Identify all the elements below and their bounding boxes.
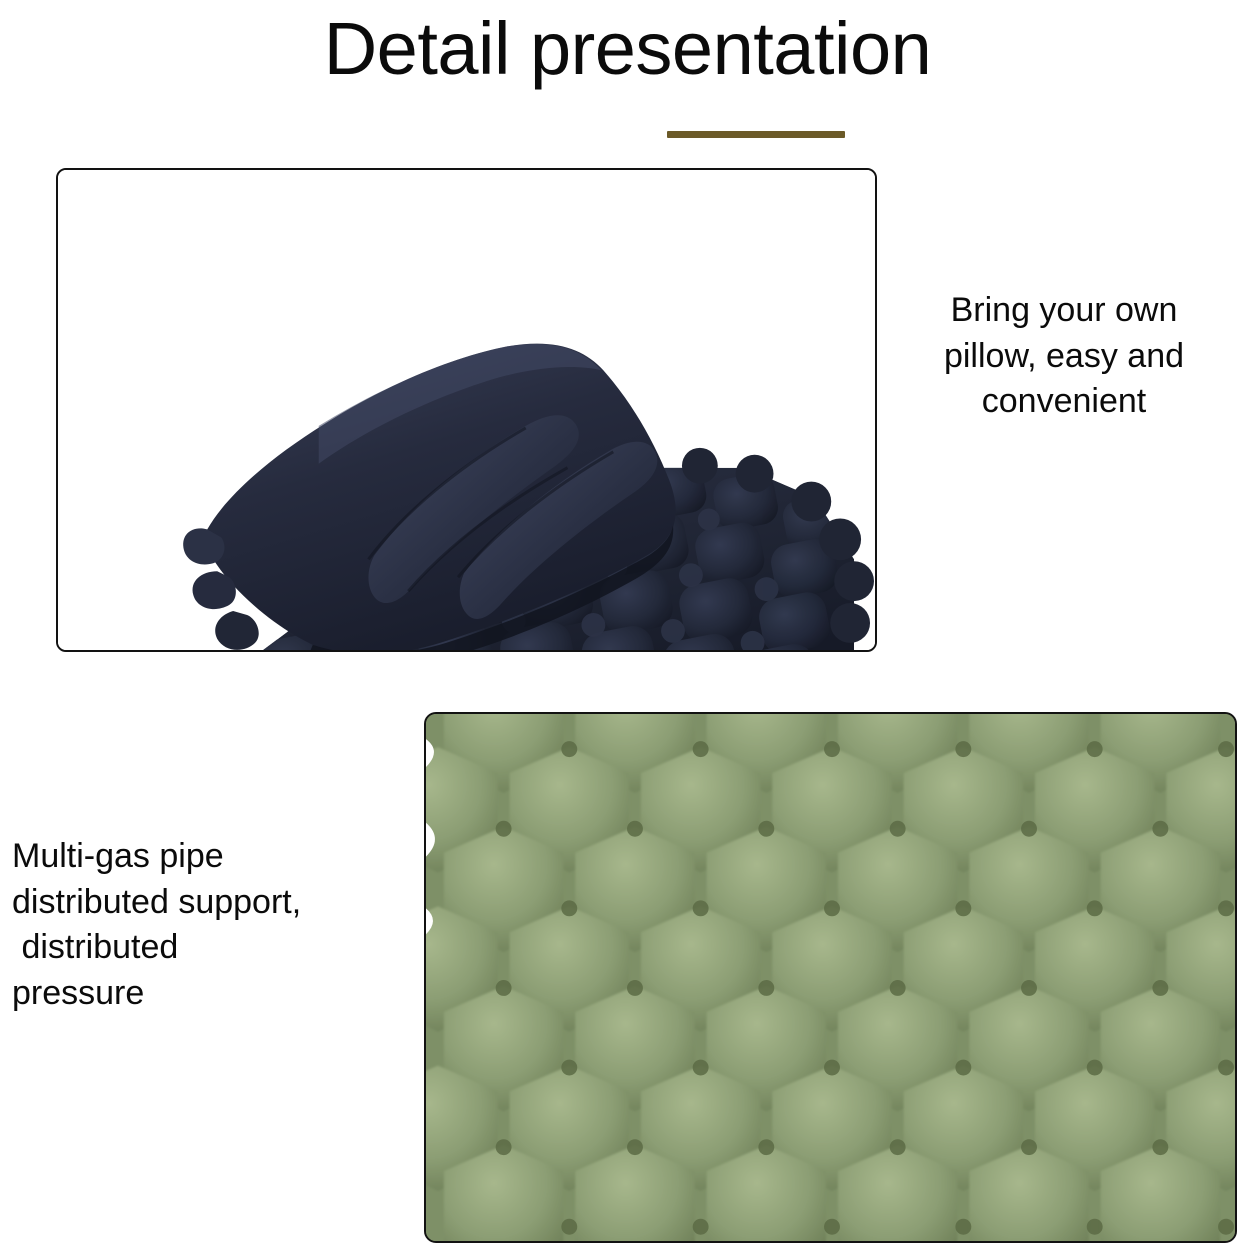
caption-honeycomb-line-2: distributed support, xyxy=(12,880,412,926)
caption-pillow-line-3: convenient xyxy=(888,379,1240,425)
green-honeycomb-mattress-illustration xyxy=(426,714,1235,1241)
inflatable-pillow-illustration xyxy=(58,170,875,650)
caption-honeycomb-line-3: distributed xyxy=(12,925,412,971)
caption-honeycomb: Multi-gas pipe distributed support, dist… xyxy=(12,834,412,1016)
honeycomb-cell-grid xyxy=(426,714,1235,1241)
caption-pillow-line-1: Bring your own xyxy=(888,288,1240,334)
caption-honeycomb-line-1: Multi-gas pipe xyxy=(12,834,412,880)
product-image-panel-honeycomb xyxy=(424,712,1237,1243)
title-underline-accent xyxy=(667,131,845,138)
caption-honeycomb-line-4: pressure xyxy=(12,971,412,1017)
caption-pillow-line-2: pillow, easy and xyxy=(888,334,1240,380)
page-title: Detail presentation xyxy=(0,6,1255,91)
product-image-panel-pillow xyxy=(56,168,877,652)
caption-pillow: Bring your own pillow, easy and convenie… xyxy=(888,288,1240,425)
